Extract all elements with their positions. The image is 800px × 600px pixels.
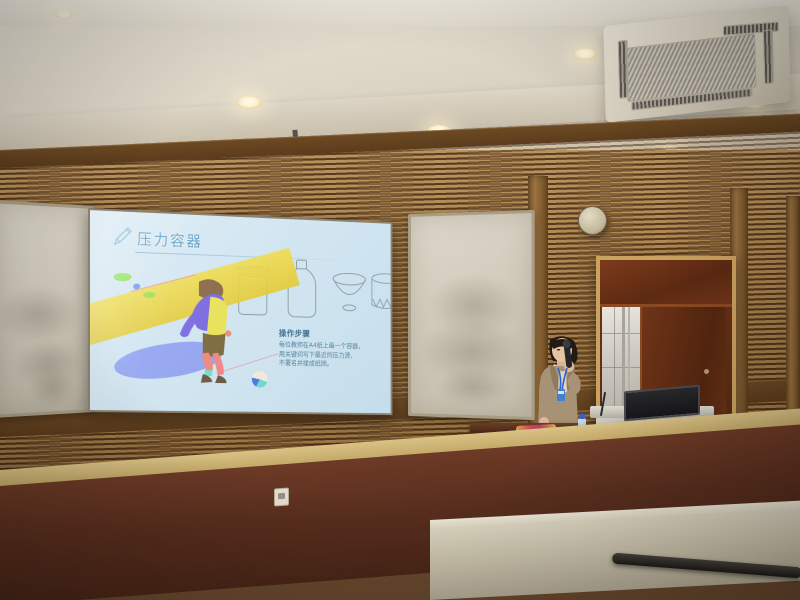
slide: 压力容器 <box>90 210 391 413</box>
downlight-1 <box>236 96 262 109</box>
illustration-blob-green <box>114 273 132 282</box>
illustration-ball <box>252 371 268 388</box>
window-pane-line <box>614 307 615 407</box>
outlet-slots <box>278 493 285 499</box>
whiteboard-right <box>408 210 535 420</box>
lecture-hall-photo: 压力容器 <box>0 0 800 600</box>
ac-vent-right <box>763 29 774 84</box>
window-pane-line <box>602 367 640 368</box>
water-bottle-cap <box>579 414 585 419</box>
projection-screen: 压力容器 <box>88 208 392 415</box>
illustration-person <box>176 275 246 386</box>
wall-pilaster-far-right <box>786 196 800 440</box>
vessel-bowl-icon <box>329 271 369 320</box>
board-smudge <box>437 367 511 405</box>
slide-body-text: 每位教师在A4纸上画一个容器， 用关键词写下最近的压力源， 不署名并揉成纸团。 <box>279 341 386 371</box>
door-transom <box>600 260 732 307</box>
downlight-6 <box>55 10 73 19</box>
wall-speaker <box>578 206 607 235</box>
wall-outlet[interactable] <box>274 487 289 506</box>
slide-section-heading: 操作步骤 <box>279 328 310 339</box>
board-smudge <box>0 286 82 343</box>
pencil-icon <box>112 223 136 248</box>
slide-body-line-3: 不署名并揉成纸团。 <box>279 359 386 370</box>
whiteboard-left <box>0 200 94 418</box>
board-smudge <box>28 370 78 409</box>
vessel-drum-cup-icon <box>370 270 392 322</box>
ac-vent-left <box>618 40 629 99</box>
slide-title: 压力容器 <box>137 228 203 251</box>
window-pane-line <box>602 333 640 334</box>
door-handle[interactable] <box>704 369 709 374</box>
downlight-3 <box>573 48 597 60</box>
